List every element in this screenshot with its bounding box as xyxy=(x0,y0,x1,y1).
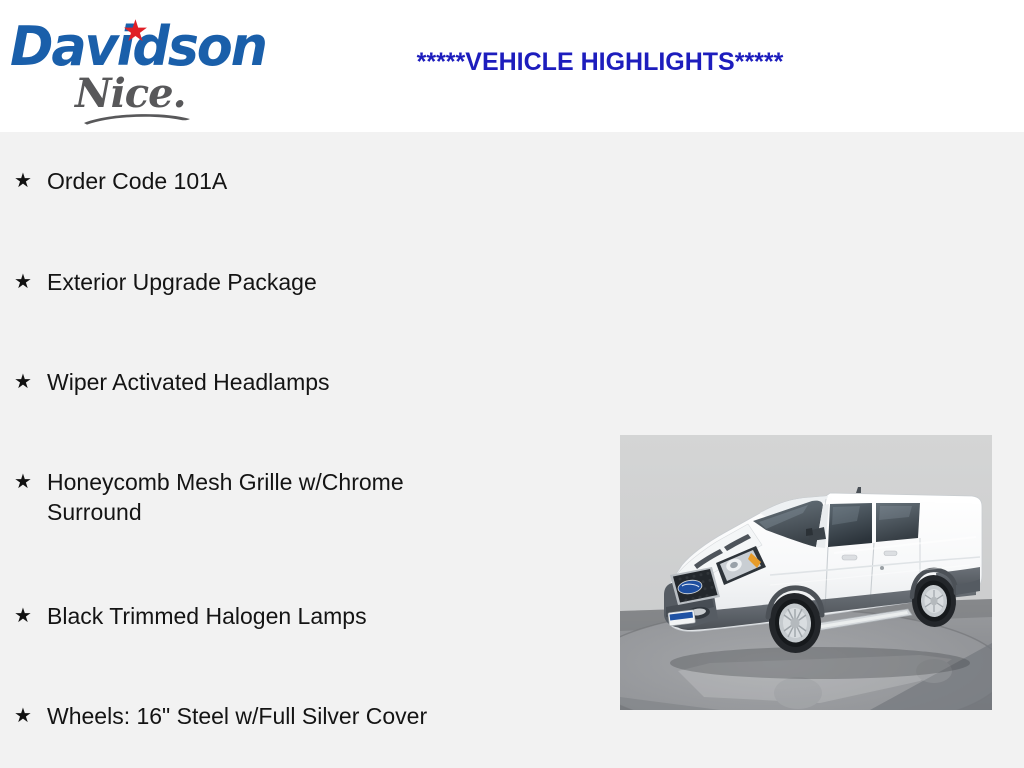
star-bullet-icon: ★ xyxy=(14,166,47,196)
dealer-logo: Davidson ★ Nice. xyxy=(10,8,265,123)
list-item: ★ Wheels: 16" Steel w/Full Silver Cover xyxy=(14,701,574,731)
list-item-label: Exterior Upgrade Package xyxy=(47,267,574,297)
list-item-label: Black Trimmed Halogen Lamps xyxy=(47,601,574,631)
star-bullet-icon: ★ xyxy=(14,467,47,497)
star-bullet-icon: ★ xyxy=(14,267,47,297)
star-bullet-icon: ★ xyxy=(14,367,47,397)
list-item-label: Honeycomb Mesh Grille w/Chrome Surround xyxy=(47,467,574,527)
main-content: ★ Order Code 101A ★ Exterior Upgrade Pac… xyxy=(0,132,1024,768)
list-item-label: Wheels: 16" Steel w/Full Silver Cover xyxy=(47,701,574,731)
red-star-icon: ★ xyxy=(122,19,148,45)
list-item-label: Wiper Activated Headlamps xyxy=(47,367,574,397)
list-item: ★ Wiper Activated Headlamps xyxy=(14,367,574,397)
vehicle-photo xyxy=(620,435,992,710)
list-item: ★ Order Code 101A xyxy=(14,166,574,196)
list-item: ★ Honeycomb Mesh Grille w/Chrome Surroun… xyxy=(14,467,574,527)
logo-secondary-text: Nice. xyxy=(75,74,186,114)
logo-swoosh-icon xyxy=(83,111,193,127)
star-bullet-icon: ★ xyxy=(14,701,47,731)
list-item-label: Order Code 101A xyxy=(47,166,574,196)
page-title: *****VEHICLE HIGHLIGHTS***** xyxy=(300,48,900,77)
list-item: ★ Black Trimmed Halogen Lamps xyxy=(14,601,574,631)
page-header: Davidson ★ Nice. *****VEHICLE HIGHLIGHTS… xyxy=(0,0,1024,132)
list-item: ★ Exterior Upgrade Package xyxy=(14,267,574,297)
star-bullet-icon: ★ xyxy=(14,601,47,631)
